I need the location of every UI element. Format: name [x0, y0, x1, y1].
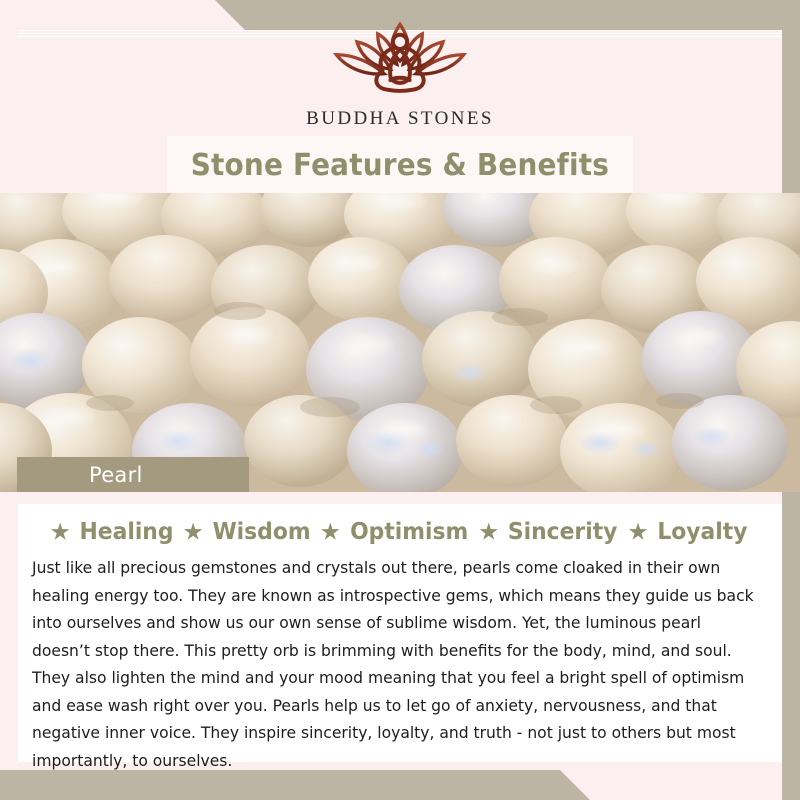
benefit-item: Optimism: [321, 519, 471, 545]
content-top-wash: [18, 492, 782, 504]
stone-name: Pearl: [89, 463, 143, 487]
benefit-label: Sincerity: [508, 519, 618, 545]
star-icon: [479, 523, 498, 542]
poster-card: BUDDHA STONES Stone Features & Benefits: [0, 0, 800, 800]
benefit-label: Wisdom: [212, 519, 310, 545]
benefit-item: Loyalty: [629, 519, 750, 545]
content-panel: Healing Wisdom Optimism Sincerity Loyalt…: [18, 492, 782, 762]
benefit-label: Optimism: [350, 519, 468, 545]
benefits-row: Healing Wisdom Optimism Sincerity Loyalt…: [32, 512, 768, 552]
benefit-item: Healing: [51, 519, 176, 545]
star-icon: [629, 523, 648, 542]
benefit-item: Sincerity: [479, 519, 620, 545]
page-title: Stone Features & Benefits: [191, 148, 609, 183]
stone-name-band: Pearl: [17, 457, 249, 492]
benefit-item: Wisdom: [184, 519, 313, 545]
frame-inner-bottom-right-patch: [590, 770, 782, 800]
benefit-label: Healing: [79, 519, 173, 545]
brand-name: BUDDHA STONES: [306, 108, 494, 130]
stone-photo: Pearl: [0, 193, 800, 492]
brand-header: BUDDHA STONES: [0, 0, 800, 150]
section-title-banner: Stone Features & Benefits: [168, 137, 632, 193]
star-icon: [321, 523, 340, 542]
benefit-label: Loyalty: [657, 519, 747, 545]
stone-description: Just like all precious gemstones and cry…: [32, 554, 763, 774]
star-icon: [184, 523, 203, 542]
star-icon: [51, 523, 70, 542]
lotus-meditation-figure-icon: [320, 18, 480, 104]
